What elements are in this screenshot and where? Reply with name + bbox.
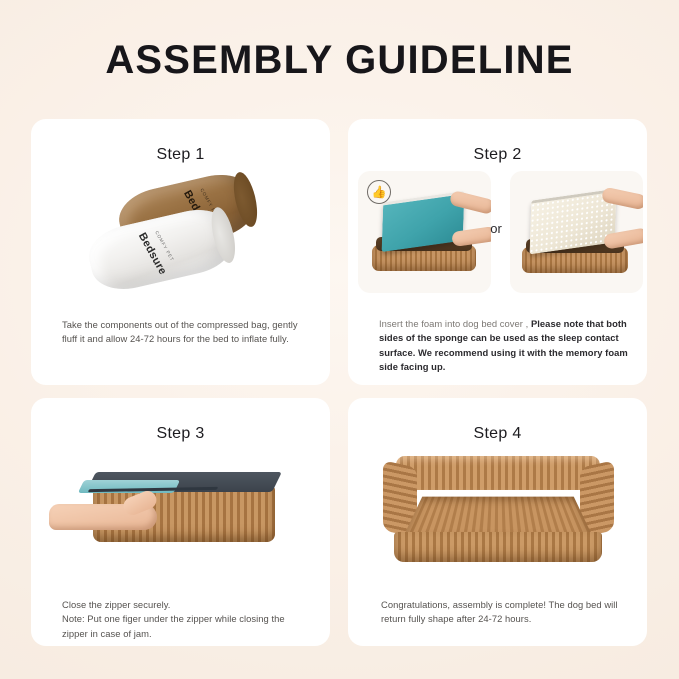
step-2-option-memory-foam-side xyxy=(510,171,643,293)
roll-end-cap xyxy=(229,170,261,229)
step-2-heading: Step 2 xyxy=(348,146,647,164)
compressed-bag-white-roll: Bedsure COMFY PET xyxy=(84,203,238,297)
or-separator-label: or xyxy=(484,221,508,236)
step-4-heading: Step 4 xyxy=(348,425,647,443)
step-4-card: Step 4 Congratulations, assembly is comp… xyxy=(348,398,647,646)
infographic-page: ASSEMBLY GUIDELINE Step 1 Bedsure COMFY … xyxy=(0,0,679,679)
step-4-illustration xyxy=(348,446,647,591)
step-1-card: Step 1 Bedsure COMFY PET Bedsure COMFY P… xyxy=(31,119,330,385)
step-1-caption: Take the components out of the compresse… xyxy=(62,318,310,347)
step-1-illustration: Bedsure COMFY PET Bedsure COMFY PET xyxy=(31,174,330,314)
step-2-caption-lead: Insert the foam into dog bed cover , xyxy=(379,318,528,329)
step-2-option-teal-side: 👍 xyxy=(358,171,491,293)
step-1-heading: Step 1 xyxy=(31,146,330,164)
brand-label: Bedsure xyxy=(136,231,169,277)
step-4-caption: Congratulations, assembly is complete! T… xyxy=(381,598,625,627)
step-2-illustration: 👍 or xyxy=(348,171,647,301)
step-3-caption: Close the zipper securely. Note: Put one… xyxy=(62,598,310,641)
page-title: ASSEMBLY GUIDELINE xyxy=(0,38,679,83)
step-2-caption: Insert the foam into dog bed cover , Ple… xyxy=(379,317,631,375)
thumbs-up-icon: 👍 xyxy=(367,180,391,204)
step-3-heading: Step 3 xyxy=(31,425,330,443)
step-3-card: Step 3 Close the zipper securely. Note: … xyxy=(31,398,330,646)
bed-front-edge xyxy=(394,532,602,562)
step-3-illustration xyxy=(31,450,330,590)
bed-sleeping-surface xyxy=(404,497,592,536)
step-2-card: Step 2 👍 or Insert the foam into dog bed… xyxy=(348,119,647,385)
bed-back-bolster xyxy=(396,456,600,490)
